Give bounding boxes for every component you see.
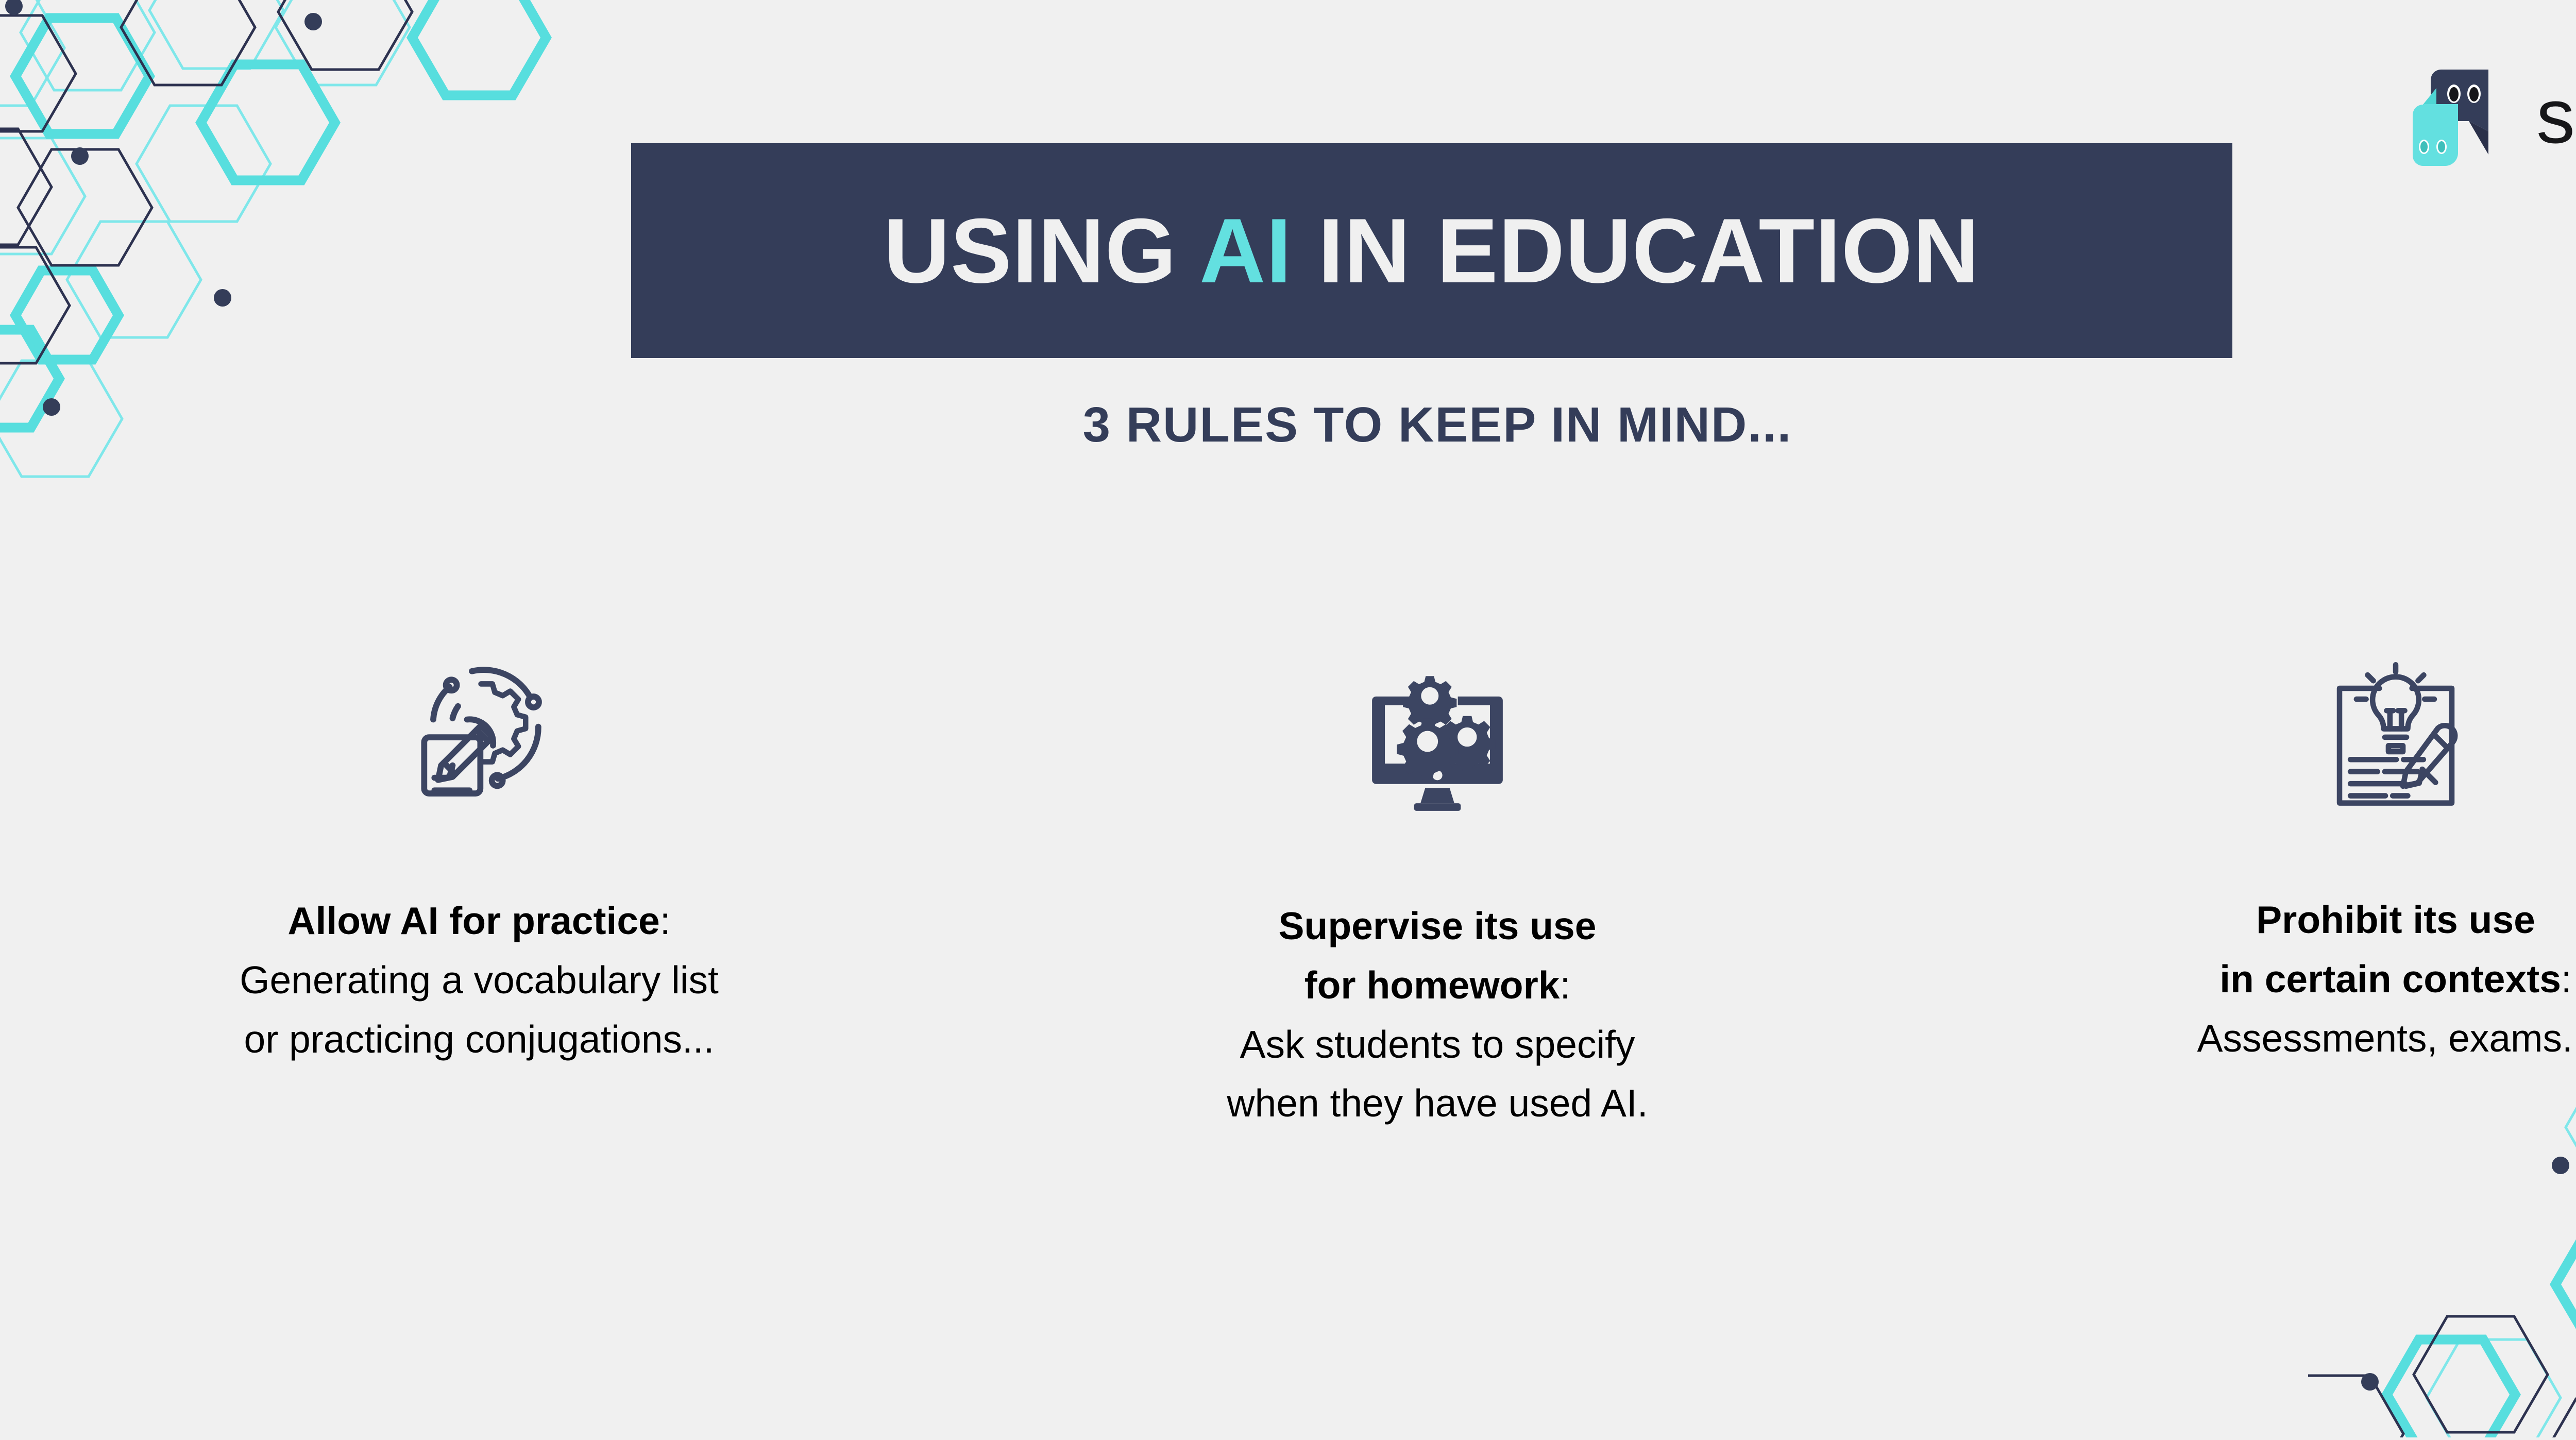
- rule-3-icon-wrap: [2318, 567, 2473, 890]
- title-after: IN EDUCATION: [1292, 199, 1980, 302]
- rule-2-body-line-2: when they have used AI.: [1227, 1074, 1648, 1133]
- rule-1-icon-wrap: [402, 567, 556, 891]
- logo-wordmark: sapere: [2536, 77, 2576, 155]
- rules-columns: Allow AI for practice: Generating a voca…: [77, 567, 2576, 1133]
- title-accent-ai: AI: [1199, 199, 1292, 302]
- rule-column-1: Allow AI for practice: Generating a voca…: [77, 567, 881, 1069]
- logo-wordmark-text: sapere: [2536, 77, 2576, 155]
- rule-2-lead-line-1: Supervise its use: [1227, 896, 1648, 956]
- rule-2-icon-wrap: [1363, 567, 1512, 896]
- page-title: USING AI IN EDUCATION: [884, 205, 1979, 297]
- monitor-gears-icon: [1363, 662, 1512, 811]
- rule-2-body-line-1: Ask students to specify: [1227, 1015, 1648, 1074]
- sapere-logo[interactable]: sapere: [2409, 62, 2576, 170]
- rule-3-text: Prohibit its use in certain contexts: As…: [2197, 890, 2576, 1068]
- rule-3-body-line-1: Assessments, exams...: [2197, 1009, 2576, 1068]
- page-subtitle: 3 RULES TO KEEP IN MIND...: [0, 397, 2576, 453]
- rule-1-lead-line: Allow AI for practice:: [240, 891, 719, 951]
- rule-1-body-line-2: or practicing conjugations...: [240, 1010, 719, 1069]
- rule-1-lead-suffix: :: [660, 899, 671, 942]
- sapere-chat-bubbles-icon: [2409, 62, 2527, 170]
- rule-3-lead-2: in certain contexts: [2219, 957, 2561, 1001]
- rule-1-lead: Allow AI for practice: [287, 899, 659, 942]
- rule-column-2: Supervise its use for homework: Ask stud…: [1036, 567, 1839, 1133]
- rule-3-lead-suffix: :: [2561, 957, 2572, 1001]
- document-lightbulb-pencil-icon: [2318, 653, 2473, 808]
- rule-3-lead-line-2: in certain contexts:: [2197, 950, 2576, 1009]
- rule-1-body-line-1: Generating a vocabulary list: [240, 951, 719, 1010]
- notepad-pencil-gear-icon: [402, 654, 556, 809]
- rule-2-lead-line-2: for homework:: [1227, 956, 1648, 1015]
- title-banner: USING AI IN EDUCATION: [631, 143, 2232, 358]
- rule-2-text: Supervise its use for homework: Ask stud…: [1227, 896, 1648, 1133]
- title-before: USING: [884, 199, 1199, 302]
- rule-3-lead-line-1: Prohibit its use: [2197, 890, 2576, 950]
- rule-1-text: Allow AI for practice: Generating a voca…: [240, 891, 719, 1069]
- rule-2-lead-2: for homework: [1304, 963, 1560, 1007]
- rule-column-3: Prohibit its use in certain contexts: As…: [1994, 567, 2576, 1068]
- rule-2-lead-suffix: :: [1560, 963, 1571, 1007]
